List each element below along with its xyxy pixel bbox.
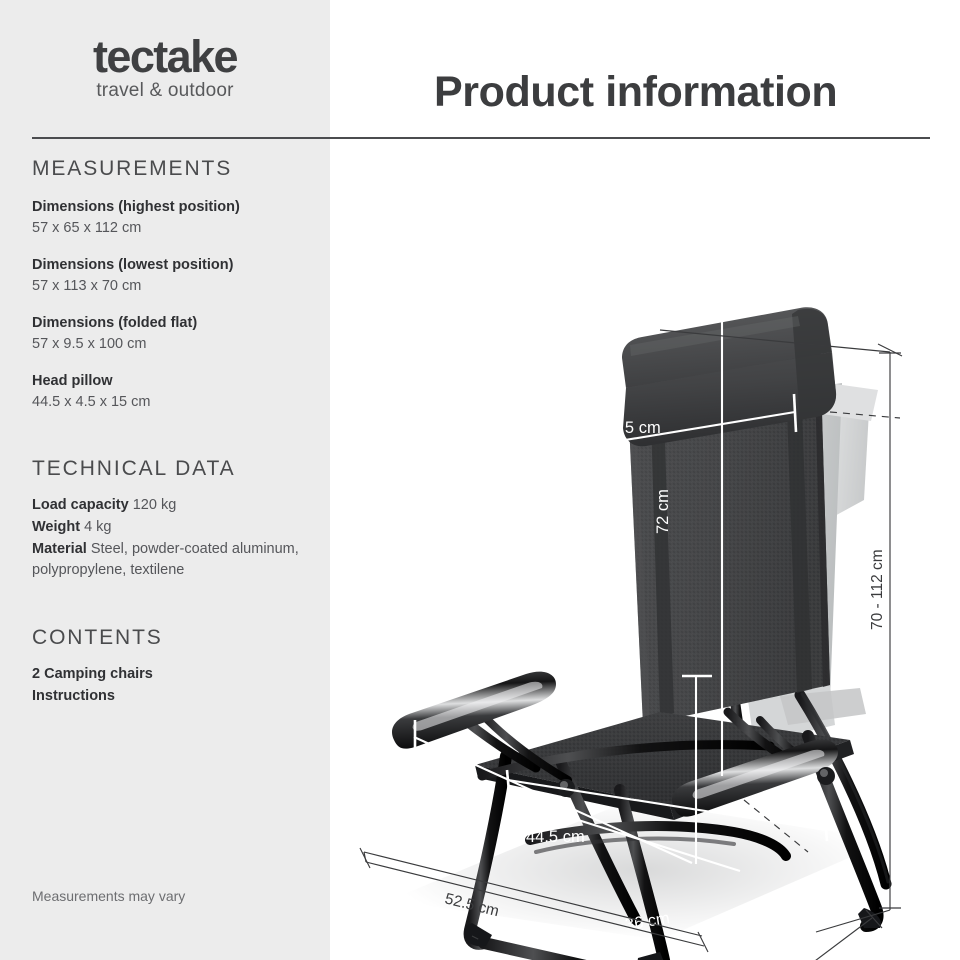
sidebar: tectake travel & outdoor MEASUREMENTS Di…: [0, 0, 330, 960]
measurement-label: Head pillow: [32, 371, 304, 392]
product-diagram: 44.5 cm 72 cm 57 cm 44.5 cm 36 cm: [330, 140, 960, 960]
brand-wordmark: tectake: [0, 34, 330, 79]
technical-value: 4 kg: [80, 519, 111, 535]
measurement-value: 57 x 65 x 112 cm: [32, 218, 304, 239]
technical-data-heading: TECHNICAL DATA: [32, 457, 304, 481]
technical-item: Load capacity 120 kg: [32, 495, 304, 517]
measurement-label: Dimensions (lowest position): [32, 255, 304, 276]
measurement-item: Dimensions (lowest position) 57 x 113 x …: [32, 255, 304, 297]
technical-item: Weight 4 kg: [32, 517, 304, 539]
measurements-heading: MEASUREMENTS: [32, 157, 304, 181]
callout-seat-width: 44.5 cm: [526, 828, 585, 846]
measurement-value: 57 x 113 x 70 cm: [32, 276, 304, 297]
measurement-item: Head pillow 44.5 x 4.5 x 15 cm: [32, 371, 304, 413]
header-divider: [32, 137, 930, 139]
brand-tagline: travel & outdoor: [0, 81, 330, 102]
callout-backrest-height: 72 cm: [654, 489, 672, 534]
page-title: Product information: [434, 69, 837, 116]
measurement-value: 44.5 x 4.5 x 15 cm: [32, 392, 304, 413]
sidebar-content: MEASUREMENTS Dimensions (highest positio…: [32, 157, 304, 708]
technical-key: Material: [32, 541, 87, 557]
measurement-label: Dimensions (folded flat): [32, 313, 304, 334]
callout-seat-to-back: 57 cm: [576, 631, 621, 649]
technical-key: Weight: [32, 519, 80, 535]
technical-value: 120 kg: [129, 497, 177, 513]
measurement-value: 57 x 9.5 x 100 cm: [32, 334, 304, 355]
contents-item: Instructions: [32, 686, 304, 708]
measurement-label: Dimensions (highest position): [32, 197, 304, 218]
brand-logo: tectake travel & outdoor: [0, 34, 330, 102]
technical-item: Material Steel, powder-coated aluminum, …: [32, 539, 304, 583]
measurement-item: Dimensions (highest position) 57 x 65 x …: [32, 197, 304, 239]
contents-heading: CONTENTS: [32, 626, 304, 650]
callout-backrest-width: 44.5 cm: [602, 419, 661, 437]
contents-item: 2 Camping chairs: [32, 664, 304, 686]
technical-key: Load capacity: [32, 497, 129, 513]
measurements-disclaimer: Measurements may vary: [32, 888, 312, 904]
measurement-item: Dimensions (folded flat) 57 x 9.5 x 100 …: [32, 313, 304, 355]
dimension-overall-height: 70 - 112 cm: [869, 549, 886, 630]
product-information-sheet: tectake travel & outdoor MEASUREMENTS Di…: [0, 0, 960, 960]
